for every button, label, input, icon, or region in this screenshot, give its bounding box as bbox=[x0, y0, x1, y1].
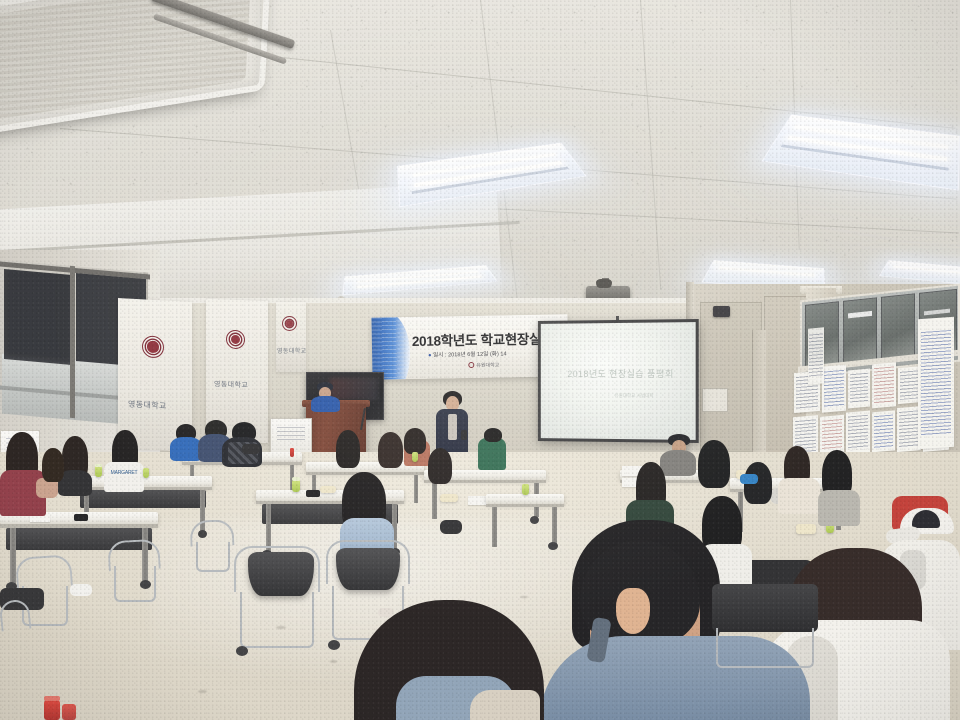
roller-blind[interactable] bbox=[4, 269, 72, 365]
snack-on-table bbox=[796, 524, 816, 534]
banner-ribbon-graphic bbox=[371, 314, 410, 379]
table bbox=[486, 494, 564, 504]
floor-mark bbox=[520, 596, 528, 598]
chair-caster bbox=[328, 640, 340, 650]
chair-frame[interactable] bbox=[716, 628, 814, 668]
front-wall-cornice bbox=[96, 298, 736, 303]
posted-paper bbox=[848, 369, 870, 409]
slide-subtitle: 유원대학교 사범대학 bbox=[580, 393, 690, 399]
banner-bullet-icon: ● bbox=[428, 353, 431, 359]
floor-mark bbox=[198, 690, 207, 693]
handheld-microphone-icon bbox=[461, 430, 467, 440]
person-hair bbox=[404, 428, 426, 454]
wall-banner-label: 영동대학교 bbox=[214, 379, 248, 390]
projection-screen: 2018년도 현장실습 품평회 유원대학교 사범대학 bbox=[538, 319, 699, 443]
wall-banner-label: 영동대학교 bbox=[277, 346, 307, 355]
posted-paper bbox=[846, 411, 870, 455]
chair-armrest[interactable] bbox=[326, 540, 410, 584]
bag-on-table bbox=[440, 520, 462, 534]
smartphone-on-table[interactable] bbox=[74, 514, 88, 521]
shoe bbox=[70, 584, 92, 596]
projection-screen-surface: 2018년도 현장실습 품평회 유원대학교 사범대학 bbox=[541, 322, 696, 440]
person-hair bbox=[336, 430, 360, 468]
posted-paper bbox=[872, 410, 895, 452]
slide-title: 2018년도 현장실습 품평회 bbox=[554, 367, 687, 380]
drink-cup bbox=[95, 466, 102, 477]
drink-cup bbox=[143, 468, 149, 478]
table-leg bbox=[492, 507, 497, 547]
wall-banner-label: 영동대학교 bbox=[128, 399, 167, 412]
chair-back[interactable] bbox=[712, 584, 818, 632]
chair-armrest[interactable] bbox=[234, 546, 320, 592]
university-emblem-icon bbox=[226, 330, 245, 350]
snack-on-table bbox=[320, 486, 336, 493]
posted-paper bbox=[898, 366, 920, 404]
posted-paper bbox=[820, 415, 844, 455]
person-hair bbox=[42, 448, 64, 482]
snack-on-table bbox=[440, 494, 458, 502]
university-emblem-icon bbox=[282, 316, 297, 331]
drink-bottle bbox=[44, 700, 60, 720]
podium-man-body bbox=[311, 396, 340, 412]
table-caster bbox=[548, 542, 558, 550]
posted-paper bbox=[808, 327, 824, 384]
university-emblem-icon bbox=[142, 335, 164, 358]
chair-caster bbox=[236, 646, 248, 656]
lecture-hall-photo: 영동대학교 영동대학교 영동대학교 bbox=[0, 0, 960, 720]
cup-lid bbox=[292, 477, 300, 481]
person-body bbox=[778, 478, 820, 514]
person-body bbox=[660, 450, 696, 476]
window-mullion bbox=[70, 266, 75, 418]
smartphone-on-table[interactable] bbox=[306, 490, 320, 497]
posted-paper bbox=[918, 317, 954, 450]
hair-accessory bbox=[740, 474, 758, 484]
person-hair bbox=[428, 448, 452, 484]
chair-frame[interactable] bbox=[196, 542, 230, 572]
drink-bottle bbox=[290, 448, 294, 457]
bottle-cap bbox=[44, 696, 60, 701]
banner-logo-emblem-icon bbox=[468, 362, 474, 368]
drink-bottle bbox=[62, 704, 76, 720]
drink-cup bbox=[412, 452, 418, 462]
posted-paper bbox=[822, 365, 846, 413]
table-leg bbox=[266, 504, 271, 552]
dome-camera-icon bbox=[596, 279, 612, 288]
person-sweatshirt bbox=[104, 462, 144, 492]
person-hair bbox=[698, 440, 730, 488]
chair-frame[interactable] bbox=[240, 592, 314, 648]
foreground-person-scarf bbox=[470, 690, 540, 720]
floor-mark bbox=[330, 660, 337, 663]
wall-control-box[interactable] bbox=[702, 388, 728, 412]
sweatshirt-text: MARGARET bbox=[108, 470, 140, 477]
bag-on-table bbox=[242, 444, 260, 454]
person-body bbox=[478, 438, 506, 470]
banner-subtitle: ● 일시 : 2018년 6월 12일 (화) 14 bbox=[428, 349, 507, 358]
person-hair bbox=[378, 432, 403, 468]
banner-subtitle-text: 일시 : 2018년 6월 12일 (화) 14 bbox=[433, 351, 507, 358]
presenter-blouse bbox=[448, 414, 457, 440]
drink-cup bbox=[292, 480, 300, 492]
wall-banner: 영동대학교 bbox=[276, 302, 306, 372]
person-hair bbox=[484, 428, 502, 442]
cup-lid bbox=[95, 464, 102, 467]
person-body bbox=[818, 490, 860, 526]
table-leg bbox=[10, 528, 16, 584]
table-modesty-panel bbox=[80, 490, 206, 508]
side-door[interactable] bbox=[752, 330, 766, 466]
drink-cup bbox=[522, 484, 529, 495]
banner-title: 2018학년도 학교현장실습 bbox=[412, 328, 554, 350]
table-caster bbox=[530, 516, 539, 524]
wall-speaker-icon bbox=[713, 306, 730, 317]
posted-paper bbox=[872, 362, 896, 408]
banner-logo-text: 유원대학교 bbox=[476, 361, 499, 368]
foreground-man-ear bbox=[616, 588, 650, 634]
chair-frame[interactable] bbox=[114, 566, 156, 602]
table-leg bbox=[552, 507, 557, 545]
monitor-reflection bbox=[330, 378, 378, 400]
